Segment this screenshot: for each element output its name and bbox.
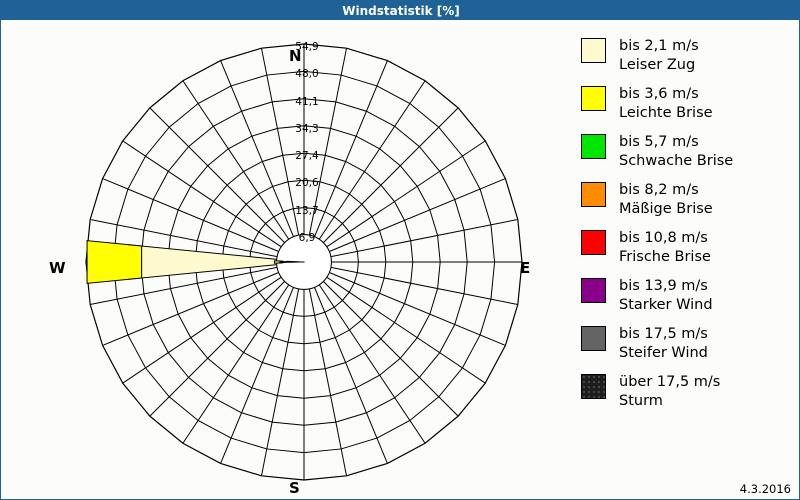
wind-rose-plot: N E S W 6,913,720,627,434,341,148,054,9 <box>1 20 571 500</box>
radial-tick-label: 54,9 <box>295 41 318 53</box>
legend-label: bis 13,9 m/sStarker Wind <box>619 277 713 315</box>
legend-beaufort-name: Schwache Brise <box>619 152 733 171</box>
grid-spoke <box>221 61 294 237</box>
date-stamp: 4.3.2016 <box>740 482 791 496</box>
legend-item: bis 17,5 m/sSteifer Wind <box>581 325 791 363</box>
grid-spoke <box>314 287 387 463</box>
grid-spoke <box>221 287 294 463</box>
legend-speed-range: bis 17,5 m/s <box>619 325 708 344</box>
legend-item: bis 8,2 m/sMäßige Brise <box>581 181 791 219</box>
legend-speed-range: bis 2,1 m/s <box>619 37 699 56</box>
legend-beaufort-name: Leiser Zug <box>619 56 699 75</box>
legend-label: bis 8,2 m/sMäßige Brise <box>619 181 713 219</box>
legend-color-swatch <box>581 38 606 63</box>
compass-label-south: S <box>289 479 300 497</box>
legend-color-swatch <box>581 278 606 303</box>
radial-tick-label: 13,7 <box>295 205 318 217</box>
grid-spoke <box>150 281 285 416</box>
window-title: Windstatistik [%] <box>342 4 459 18</box>
legend-speed-range: über 17,5 m/s <box>619 373 720 392</box>
radial-tick-label: 41,1 <box>295 96 318 108</box>
legend-speed-range: bis 3,6 m/s <box>619 85 713 104</box>
legend-item: über 17,5 m/sSturm <box>581 373 791 411</box>
grid-spoke <box>314 61 387 237</box>
legend-item: bis 13,9 m/sStarker Wind <box>581 277 791 315</box>
legend-label: bis 17,5 m/sSteifer Wind <box>619 325 708 363</box>
radial-tick-label: 48,0 <box>295 68 318 80</box>
legend-item: bis 3,6 m/sLeichte Brise <box>581 85 791 123</box>
legend-speed-range: bis 5,7 m/s <box>619 133 733 152</box>
window-titlebar: Windstatistik [%] <box>1 1 800 20</box>
compass-label-east: E <box>520 259 530 277</box>
legend-item: bis 5,7 m/sSchwache Brise <box>581 133 791 171</box>
radial-tick-label: 27,4 <box>295 150 318 162</box>
grid-spoke <box>329 179 505 252</box>
grid-spoke <box>323 108 458 243</box>
legend-beaufort-name: Leichte Brise <box>619 104 713 123</box>
legend-color-swatch <box>581 230 606 255</box>
legend-item: bis 2,1 m/sLeiser Zug <box>581 37 791 75</box>
grid-spoke <box>103 179 279 252</box>
legend-beaufort-name: Mäßige Brise <box>619 200 713 219</box>
legend-speed-range: bis 10,8 m/s <box>619 229 711 248</box>
legend-beaufort-name: Steifer Wind <box>619 344 708 363</box>
legend-beaufort-name: Sturm <box>619 392 720 411</box>
legend-color-swatch <box>581 326 606 351</box>
wind-rose-svg <box>1 20 571 500</box>
legend-speed-range: bis 13,9 m/s <box>619 277 713 296</box>
legend-beaufort-name: Starker Wind <box>619 296 713 315</box>
grid-spoke <box>103 272 279 345</box>
wind-statistics-window: Windstatistik [%] N E S W 6,913,720,627,… <box>0 0 800 500</box>
legend-label: bis 10,8 m/sFrische Brise <box>619 229 711 267</box>
legend-color-swatch <box>581 134 606 159</box>
radial-tick-label: 6,9 <box>299 232 316 244</box>
legend-label: bis 2,1 m/sLeiser Zug <box>619 37 699 75</box>
legend-color-swatch <box>581 182 606 207</box>
legend-item: bis 10,8 m/sFrische Brise <box>581 229 791 267</box>
legend-color-swatch <box>581 374 606 399</box>
legend-color-swatch <box>581 86 606 111</box>
rose-petals <box>87 241 304 284</box>
legend: bis 2,1 m/sLeiser Zugbis 3,6 m/sLeichte … <box>581 37 791 421</box>
grid-spoke <box>323 281 458 416</box>
rose-petal-segment <box>87 241 142 284</box>
legend-label: bis 3,6 m/sLeichte Brise <box>619 85 713 123</box>
grid-spoke <box>329 272 505 345</box>
compass-label-west: W <box>49 259 66 277</box>
legend-label: über 17,5 m/sSturm <box>619 373 720 411</box>
legend-label: bis 5,7 m/sSchwache Brise <box>619 133 733 171</box>
radial-tick-label: 20,6 <box>295 177 318 189</box>
legend-speed-range: bis 8,2 m/s <box>619 181 713 200</box>
grid-spoke <box>150 108 285 243</box>
radial-tick-label: 34,3 <box>295 123 318 135</box>
legend-beaufort-name: Frische Brise <box>619 248 711 267</box>
